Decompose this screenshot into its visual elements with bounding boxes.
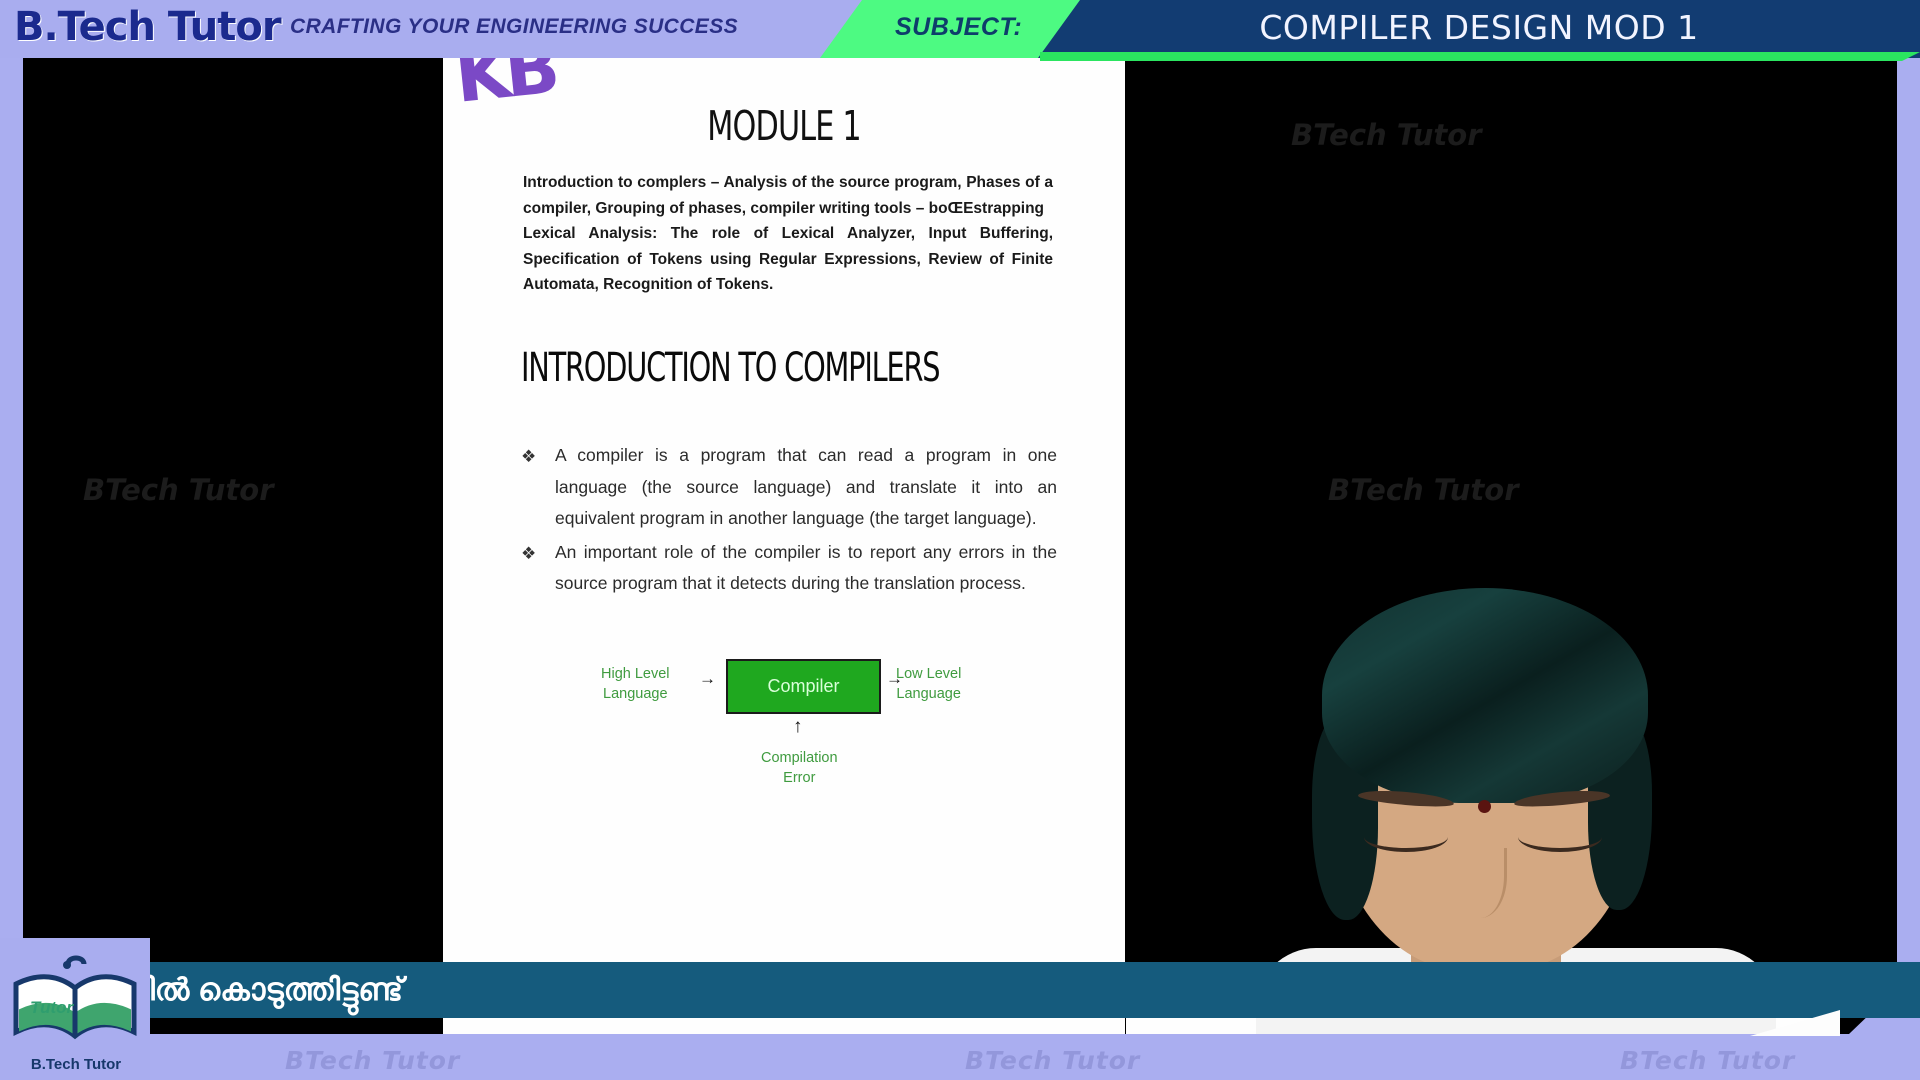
watermark-bottom-1: BTech Tutor	[285, 1046, 460, 1075]
arrow-right-icon: →	[699, 670, 716, 687]
open-book-icon	[6, 954, 144, 1050]
list-item: ❖ An important role of the compiler is t…	[521, 537, 1057, 600]
presenter-hair	[1322, 588, 1648, 803]
list-item: ❖ A compiler is a program that can read …	[521, 440, 1057, 535]
channel-logo: Tutor B.Tech Tutor	[0, 938, 150, 1080]
presenter-eye-left	[1364, 822, 1448, 852]
slide-module-title: MODULE 1	[504, 102, 1063, 150]
slide-syllabus: Introduction to complers – Analysis of t…	[523, 170, 1053, 298]
presenter-eye-right	[1518, 822, 1602, 852]
screen-root: BTech Tutor BTech Tutor BTech Tutor BTec…	[0, 0, 1920, 1080]
slide-bullet-list: ❖ A compiler is a program that can read …	[521, 440, 1057, 602]
logo-name: B.Tech Tutor	[6, 1056, 146, 1074]
channel-brand: B.Tech Tutor	[14, 1, 281, 53]
watermark-canvas-left: BTech Tutor	[83, 473, 274, 507]
diagram-compiler-box: Compiler	[726, 659, 881, 714]
presenter-bindi	[1478, 800, 1491, 813]
presentation-slide: KB MODULE 1 Introduction to complers – A…	[443, 48, 1125, 1034]
syllabus-line-1: Introduction to complers – Analysis of t…	[523, 170, 1053, 221]
bullet-diamond-icon: ❖	[521, 537, 555, 600]
subject-label: SUBJECT:	[895, 8, 1022, 46]
watermark-canvas-top-right: BTech Tutor	[1291, 118, 1482, 152]
top-banner: B.Tech Tutor CRAFTING YOUR ENGINEERING S…	[0, 0, 1920, 58]
watermark-bottom-3: BTech Tutor	[1620, 1046, 1795, 1075]
banner-green-underline	[1040, 52, 1920, 61]
diagram-error-label: CompilationError	[761, 748, 838, 788]
arrow-up-icon: ↑	[793, 718, 803, 735]
bullet-text: A compiler is a program that can read a …	[555, 440, 1057, 535]
logo-word: Tutor	[30, 998, 73, 1018]
watermark-bottom-2: BTech Tutor	[965, 1046, 1140, 1075]
bullet-diamond-icon: ❖	[521, 440, 555, 535]
slide-section-heading: INTRODUCTION TO COMPILERS	[521, 340, 953, 396]
diagram-compiler-label: Compiler	[728, 661, 879, 712]
subject-title-bar: COMPILER DESIGN MOD 1	[1038, 0, 1920, 58]
compiler-flow-diagram: High LevelLanguage → Compiler → Low Leve…	[521, 646, 1057, 786]
channel-tagline: CRAFTING YOUR ENGINEERING SUCCESS	[290, 10, 738, 44]
presenter-webcam	[1126, 500, 1897, 1034]
diagram-input-label: High LevelLanguage	[601, 664, 670, 704]
syllabus-line-2: Lexical Analysis: The role of Lexical An…	[523, 221, 1053, 298]
caption-bar: ിസ്ക്രിപ്ഷനിൽ കൊടുത്തിട്ടുണ്ട്	[0, 962, 1920, 1018]
diagram-output-label: Low LevelLanguage	[896, 664, 961, 704]
bullet-text: An important role of the compiler is to …	[555, 537, 1057, 600]
page-title: COMPILER DESIGN MOD 1	[1038, 6, 1920, 50]
